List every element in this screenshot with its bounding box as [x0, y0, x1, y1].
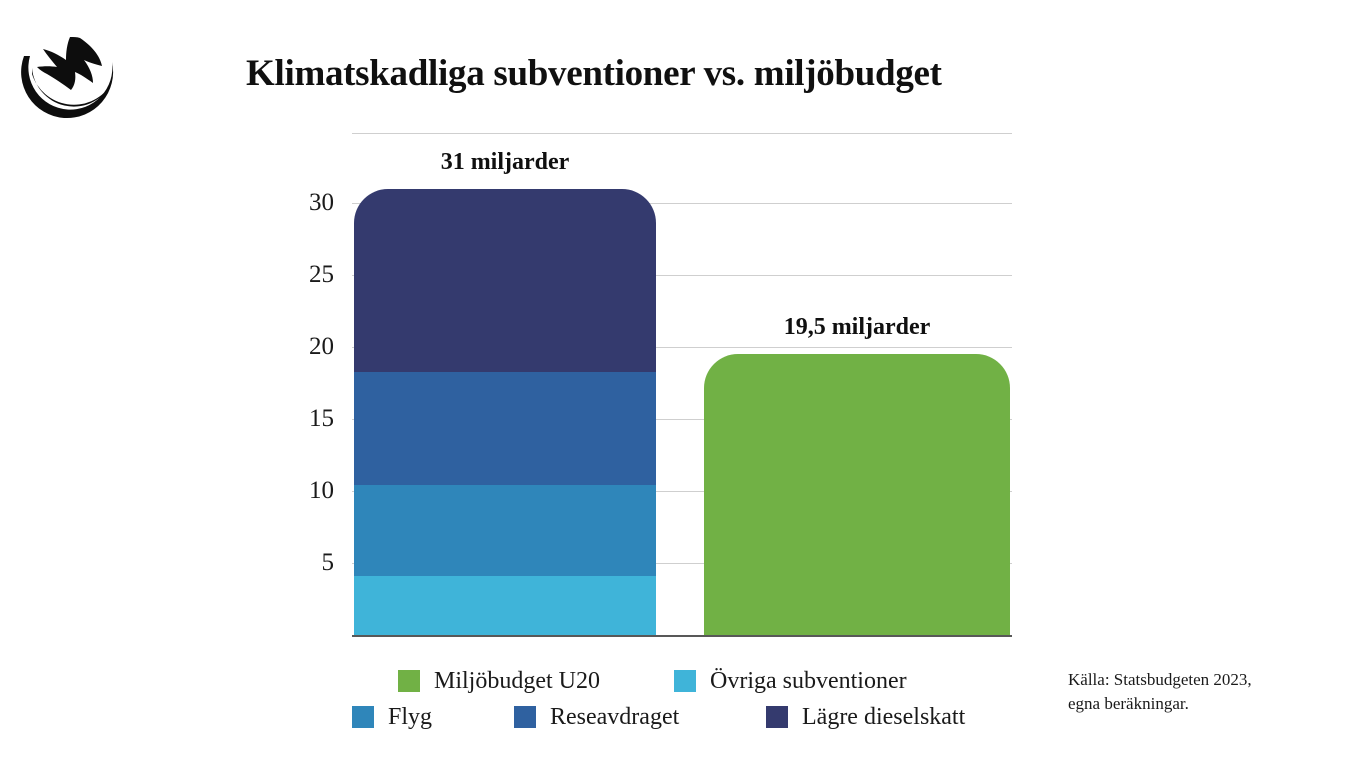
bar-value-label-miljobudget: 19,5 miljarder — [784, 314, 931, 341]
legend-item-flyg[interactable]: Flyg — [352, 705, 432, 729]
ytick-label-5: 5 — [322, 549, 335, 577]
bar-segment-ovriga-subventioner[interactable] — [354, 576, 656, 635]
bar-segment-flyg[interactable] — [354, 485, 656, 576]
legend-label-ovriga-subventioner: Övriga subventioner — [710, 669, 907, 693]
gridline-top — [352, 133, 1012, 134]
legend-item-lagre-dieselskatt[interactable]: Lägre dieselskatt — [766, 705, 965, 729]
source-note-line-2: egna beräkningar. — [1068, 692, 1318, 716]
bar-klimatskadliga-subventioner[interactable]: 31 miljarder — [354, 189, 656, 635]
bar-miljobudget-u20[interactable]: 19,5 miljarder — [704, 354, 1010, 635]
legend-swatch-ovriga-subventioner-icon — [674, 670, 696, 692]
axis-baseline — [352, 635, 1012, 637]
source-note-line-1: Källa: Statsbudgeten 2023, — [1068, 668, 1318, 692]
bar-segment-lagre-dieselskatt[interactable] — [354, 189, 656, 372]
chart-canvas: Klimatskadliga subventioner vs. miljöbud… — [0, 0, 1366, 768]
bar-segment-reseavdraget[interactable] — [354, 372, 656, 485]
legend-swatch-flyg-icon — [352, 706, 374, 728]
bar-segment-miljobudget-u20[interactable] — [704, 354, 1010, 635]
legend: Miljöbudget U20 Övriga subventioner Flyg… — [352, 663, 1012, 735]
ytick-label-25: 25 — [309, 261, 334, 289]
legend-swatch-miljobudget-u20-icon — [398, 670, 420, 692]
legend-item-reseavdraget[interactable]: Reseavdraget — [514, 705, 679, 729]
ytick-label-15: 15 — [309, 405, 334, 433]
legend-swatch-lagre-dieselskatt-icon — [766, 706, 788, 728]
ytick-label-10: 10 — [309, 477, 334, 505]
ytick-label-20: 20 — [309, 333, 334, 361]
bar-value-label-subventioner: 31 miljarder — [441, 149, 570, 176]
swallow-in-circle-logo-icon — [14, 16, 122, 120]
page-title: Klimatskadliga subventioner vs. miljöbud… — [246, 52, 1146, 96]
source-note: Källa: Statsbudgeten 2023, egna beräknin… — [1068, 668, 1318, 716]
plot-area: 30 25 20 15 10 5 31 miljarder 19,5 milja… — [352, 133, 1012, 637]
legend-label-reseavdraget: Reseavdraget — [550, 705, 679, 729]
legend-item-ovriga-subventioner[interactable]: Övriga subventioner — [674, 669, 907, 693]
legend-label-flyg: Flyg — [388, 705, 432, 729]
ytick-label-30: 30 — [309, 189, 334, 217]
legend-item-miljobudget-u20[interactable]: Miljöbudget U20 — [398, 669, 600, 693]
legend-swatch-reseavdraget-icon — [514, 706, 536, 728]
legend-label-miljobudget-u20: Miljöbudget U20 — [434, 669, 600, 693]
legend-label-lagre-dieselskatt: Lägre dieselskatt — [802, 705, 965, 729]
